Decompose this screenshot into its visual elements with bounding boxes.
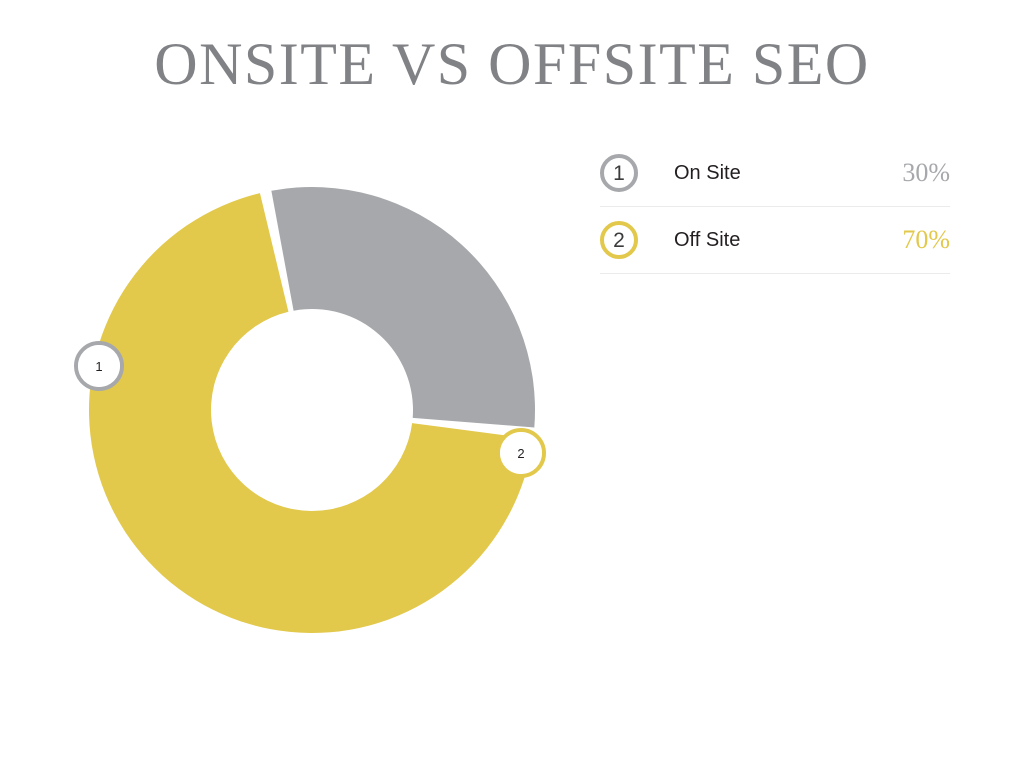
legend-label-off-site: Off Site — [674, 229, 902, 252]
legend-badge-2: 2 — [600, 221, 638, 259]
slide-canvas: ONSITE VS OFFSITE SEO 12 1 On Site 30% 2… — [0, 0, 1024, 768]
legend-row-off-site[interactable]: 2 Off Site 70% — [600, 207, 950, 274]
donut-chart-svg: 12 — [60, 165, 580, 665]
legend-badge-1: 1 — [600, 154, 638, 192]
chart-marker-label-1: 1 — [95, 359, 102, 374]
legend-label-on-site: On Site — [674, 162, 902, 185]
legend: 1 On Site 30% 2 Off Site 70% — [600, 140, 950, 274]
legend-row-on-site[interactable]: 1 On Site 30% — [600, 140, 950, 207]
donut-slices — [89, 187, 535, 633]
legend-value-off-site: 70% — [902, 225, 950, 255]
chart-marker-label-2: 2 — [517, 446, 524, 461]
donut-chart: 12 — [60, 165, 580, 665]
donut-slice-on-site[interactable] — [271, 187, 535, 427]
page-title: ONSITE VS OFFSITE SEO — [0, 28, 1024, 100]
legend-value-on-site: 30% — [902, 158, 950, 188]
